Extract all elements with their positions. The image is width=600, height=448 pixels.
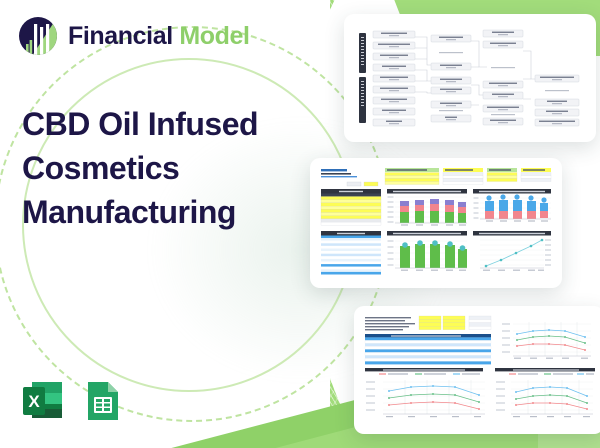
- brand-lockup: Financial Model: [18, 16, 250, 56]
- svg-text:X: X: [28, 392, 40, 411]
- flowchart-canvas: [351, 21, 589, 135]
- line-charts-canvas: [361, 313, 597, 427]
- flowchart-svg: [351, 21, 589, 135]
- dashboard-svg: [317, 165, 555, 281]
- brand-name: Financial Model: [68, 22, 250, 51]
- google-sheets-icon[interactable]: [80, 378, 126, 424]
- card-dashboard[interactable]: [310, 158, 562, 288]
- card-line-charts[interactable]: [354, 306, 600, 434]
- file-format-icons: X: [20, 378, 126, 424]
- line-charts-svg: [361, 313, 597, 427]
- brand-name-accent: Model: [179, 22, 249, 50]
- card-dupont-flowchart[interactable]: [344, 14, 596, 142]
- dashboard-canvas: [317, 165, 555, 281]
- brand-name-primary: Financial: [68, 22, 173, 50]
- financial-model-logo-icon: [18, 16, 58, 56]
- excel-icon[interactable]: X: [20, 378, 66, 424]
- page-title: CBD Oil Infused Cosmetics Manufacturing: [22, 102, 260, 234]
